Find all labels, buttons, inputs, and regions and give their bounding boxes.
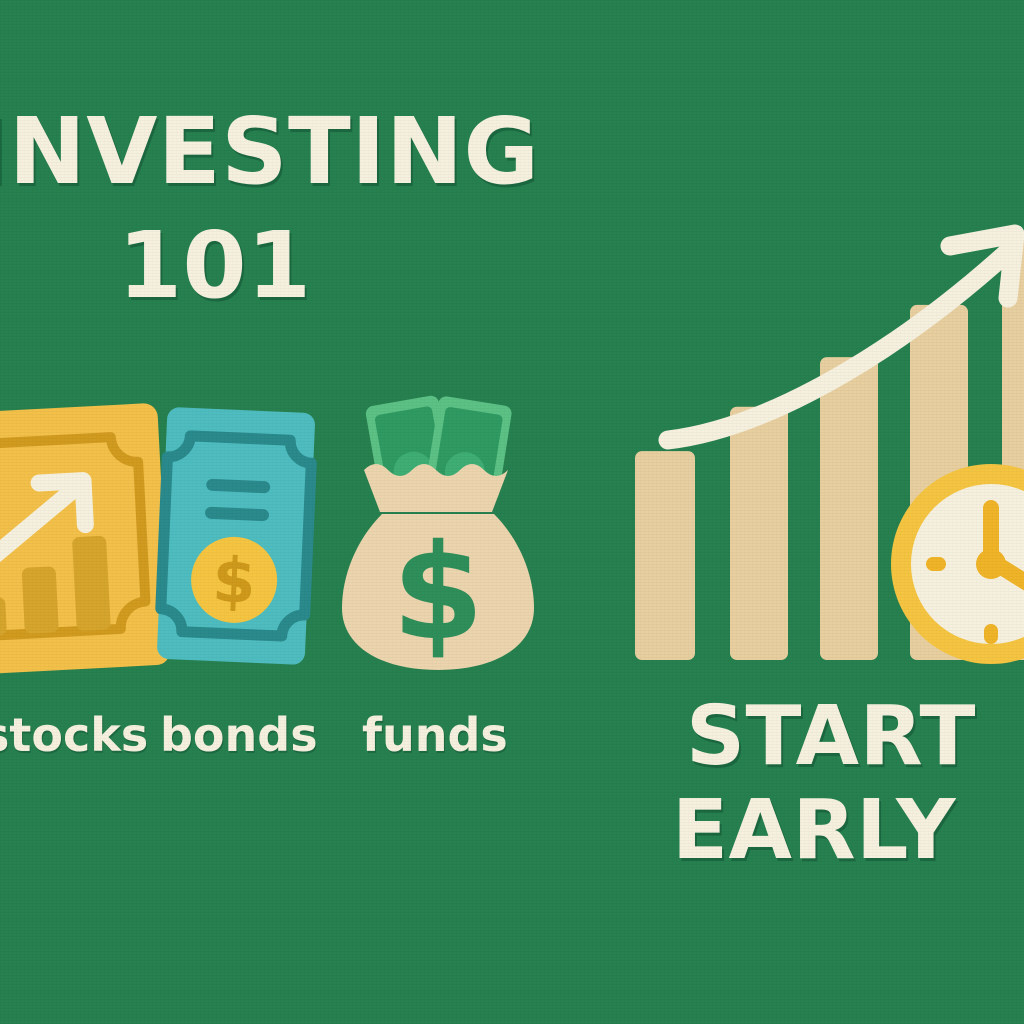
asset-label-bonds: bonds <box>160 708 318 762</box>
money-bag-icon: $ <box>338 386 538 676</box>
bonds-note-icon: $ <box>152 402 322 672</box>
page-title-line2: 101 <box>118 222 312 309</box>
asset-label-funds: funds <box>362 708 508 762</box>
svg-text:$: $ <box>392 516 484 670</box>
bar-2 <box>730 407 788 660</box>
clock-icon <box>886 452 1024 682</box>
infographic-canvas: INVESTING 101 $ <box>0 0 1024 1024</box>
page-title-line1: INVESTING <box>0 108 540 195</box>
bar-1 <box>635 451 695 660</box>
tagline-line2: EARLY <box>672 792 956 870</box>
svg-text:$: $ <box>211 543 257 618</box>
asset-label-stocks: stocks <box>0 708 148 762</box>
tagline-line1: START <box>686 698 976 776</box>
bar-3 <box>820 357 878 660</box>
